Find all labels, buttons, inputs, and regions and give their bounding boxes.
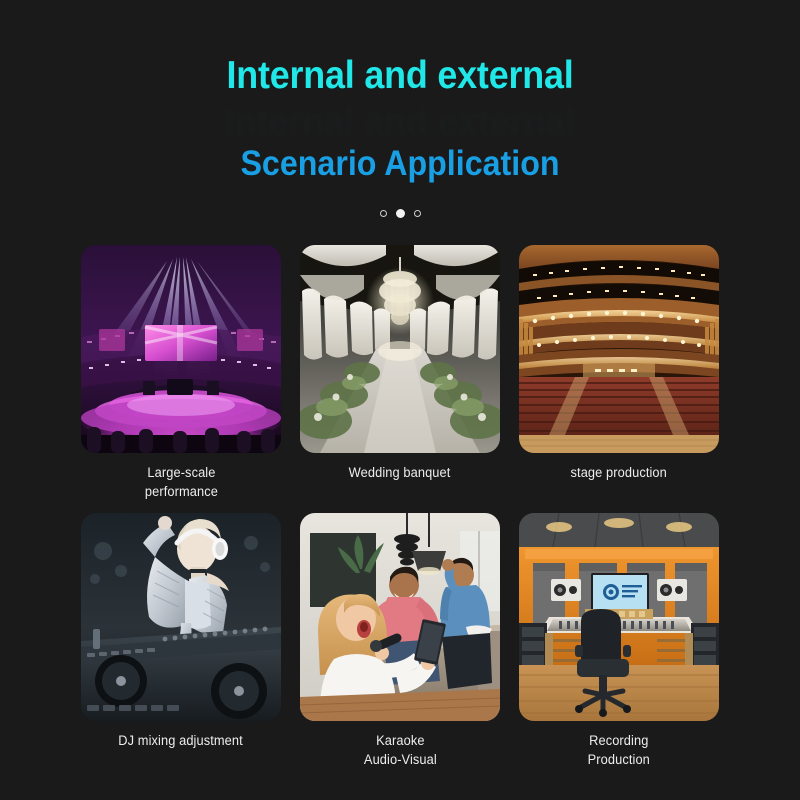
- carousel-dot-2[interactable]: [396, 209, 405, 218]
- scenario-card-stage-production[interactable]: stage production: [519, 245, 719, 501]
- caption-karaoke-audio-visual: Karaoke Audio-Visual: [364, 731, 437, 769]
- page-title-ghost-text: Internal and external: [32, 103, 768, 144]
- caption-stage-production: stage production: [571, 463, 667, 482]
- heading-block: Internal and external Internal and exter…: [0, 0, 800, 183]
- wedding-aisle-image: [300, 245, 500, 453]
- karaoke-living-room-image: [300, 513, 500, 721]
- page-title-line-2: Scenario Application: [32, 146, 768, 183]
- auditorium-image: [519, 245, 719, 453]
- caption-dj-mixing-adjustment: DJ mixing adjustment: [119, 731, 244, 750]
- concert-arena-image: [81, 245, 281, 453]
- page-title-line-1: Internal and external: [32, 56, 768, 97]
- carousel-dots[interactable]: [0, 207, 800, 221]
- scenario-card-dj-mixing-adjustment[interactable]: DJ mixing adjustment: [81, 513, 281, 769]
- scenario-card-large-scale-performance[interactable]: Large-scale performance: [81, 245, 281, 501]
- scenario-application-page: Internal and external Internal and exter…: [0, 0, 800, 800]
- scenario-card-karaoke-audio-visual[interactable]: Karaoke Audio-Visual: [300, 513, 500, 769]
- carousel-dot-3[interactable]: [414, 210, 421, 217]
- scenario-card-grid: Large-scale performance: [81, 245, 719, 770]
- caption-large-scale-performance: Large-scale performance: [144, 463, 217, 501]
- dj-booth-image: [81, 513, 281, 721]
- carousel-dot-1[interactable]: [380, 210, 387, 217]
- scenario-card-wedding-banquet[interactable]: Wedding banquet: [300, 245, 500, 501]
- caption-recording-production: Recording Production: [588, 731, 650, 769]
- scenario-card-recording-production[interactable]: Recording Production: [519, 513, 719, 769]
- recording-studio-image: [519, 513, 719, 721]
- caption-wedding-banquet: Wedding banquet: [349, 463, 451, 482]
